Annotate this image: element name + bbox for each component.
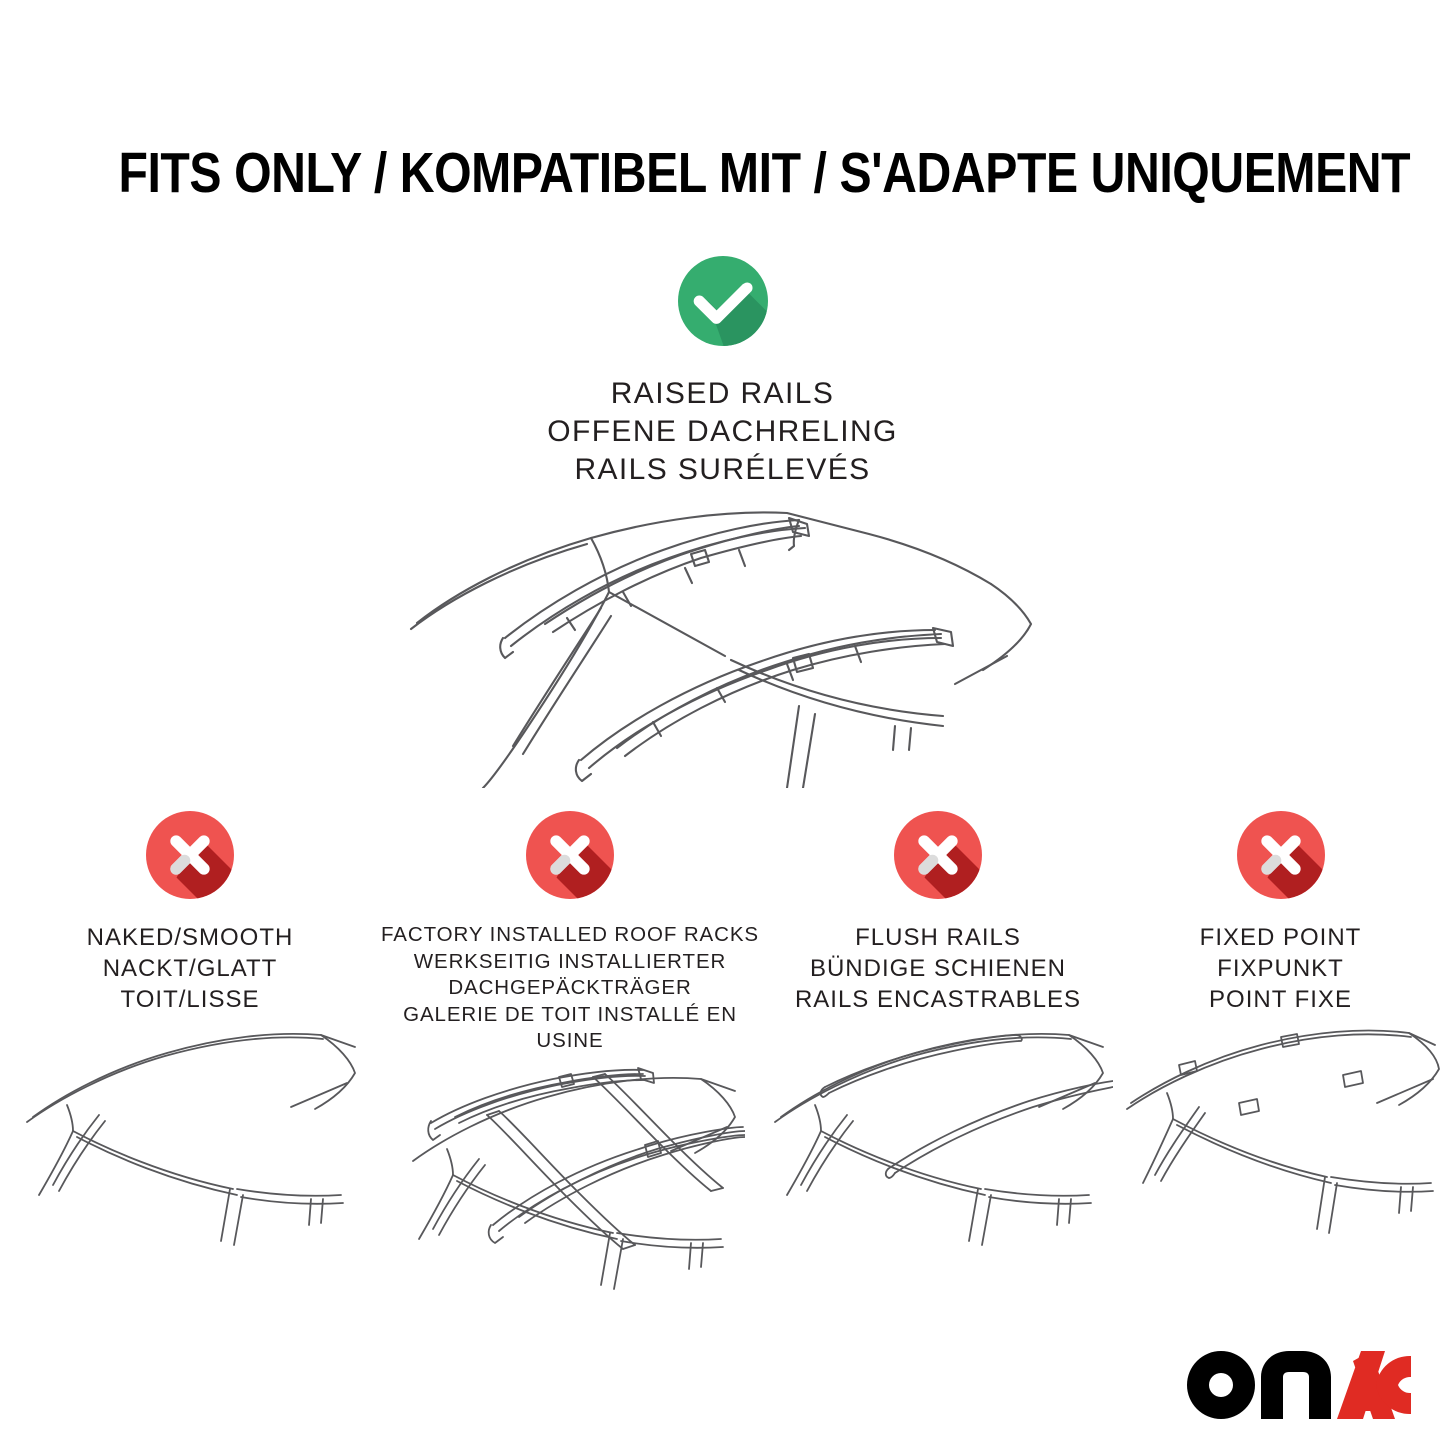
omac-logo: OMAC [1185, 1347, 1411, 1425]
option-label-line-en: NAKED/SMOOTH [0, 922, 380, 953]
option-label-line-en: FIXED POINT [1116, 922, 1445, 953]
option-naked-smooth: NAKED/SMOOTH NACKT/GLATT TOIT/LISSE [0, 810, 380, 1257]
option-label-line-fr: GALERIE DE TOIT INSTALLÉ EN USINE [380, 1002, 760, 1055]
option-label-line-fr: TOIT/LISSE [0, 984, 380, 1015]
incompatible-options-row: NAKED/SMOOTH NACKT/GLATT TOIT/LISSE [0, 810, 1445, 1297]
option-label-line-en: FLUSH RAILS [760, 922, 1116, 953]
option-flush-rails: FLUSH RAILS BÜNDIGE SCHIENEN RAILS ENCAS… [760, 810, 1116, 1257]
option-label-line-de: NACKT/GLATT [0, 953, 380, 984]
option-fixed-point: FIXED POINT FIXPUNKT POINT FIXE [1116, 810, 1445, 1257]
featured-label-line-en: RAISED RAILS [0, 375, 1445, 413]
option-label-line-de: FIXPUNKT [1116, 953, 1445, 984]
featured-label-line-fr: RAILS SURÉLEVÉS [0, 451, 1445, 489]
option-flush-rails-label: FLUSH RAILS BÜNDIGE SCHIENEN RAILS ENCAS… [760, 922, 1116, 1015]
page-title: FITS ONLY / KOMPATIBEL MIT / S'ADAPTE UN… [118, 142, 1410, 204]
option-fixed-point-label: FIXED POINT FIXPUNKT POINT FIXE [1116, 922, 1445, 1015]
option-factory-roof-racks-label: FACTORY INSTALLED ROOF RACKS WERKSEITIG … [380, 922, 760, 1055]
option-naked-smooth-label: NAKED/SMOOTH NACKT/GLATT TOIT/LISSE [0, 922, 380, 1015]
car-roof-factory-roof-racks-illustration [395, 1065, 745, 1297]
option-label-line-de-1: WERKSEITIG INSTALLIERTER [380, 949, 760, 976]
featured-option-raised-rails: RAISED RAILS OFFENE DACHRELING RAILS SUR… [0, 255, 1445, 489]
option-label-line-en: FACTORY INSTALLED ROOF RACKS [380, 922, 760, 949]
car-roof-raised-rails-illustration [395, 488, 1055, 788]
check-circle-icon [677, 255, 769, 347]
option-label-line-fr: RAILS ENCASTRABLES [760, 984, 1116, 1015]
featured-option-label: RAISED RAILS OFFENE DACHRELING RAILS SUR… [0, 375, 1445, 489]
omac-wordmark-icon [1185, 1349, 1411, 1423]
cross-circle-icon [1236, 810, 1326, 900]
cross-circle-icon [525, 810, 615, 900]
car-roof-flush-rails-illustration [763, 1025, 1113, 1257]
title-bar: FITS ONLY / KOMPATIBEL MIT / S'ADAPTE UN… [0, 104, 1445, 242]
option-label-line-de-2: DACHGEPÄCKTRÄGER [380, 975, 760, 1002]
option-label-line-fr: POINT FIXE [1116, 984, 1445, 1015]
compatibility-infographic: FITS ONLY / KOMPATIBEL MIT / S'ADAPTE UN… [0, 0, 1445, 1445]
cross-circle-icon [145, 810, 235, 900]
cross-circle-icon [893, 810, 983, 900]
option-factory-roof-racks: FACTORY INSTALLED ROOF RACKS WERKSEITIG … [380, 810, 760, 1297]
car-roof-naked-smooth-illustration [15, 1025, 365, 1257]
car-roof-fixed-point-illustration [1121, 1025, 1441, 1257]
option-label-line-de: BÜNDIGE SCHIENEN [760, 953, 1116, 984]
featured-label-line-de: OFFENE DACHRELING [0, 413, 1445, 451]
